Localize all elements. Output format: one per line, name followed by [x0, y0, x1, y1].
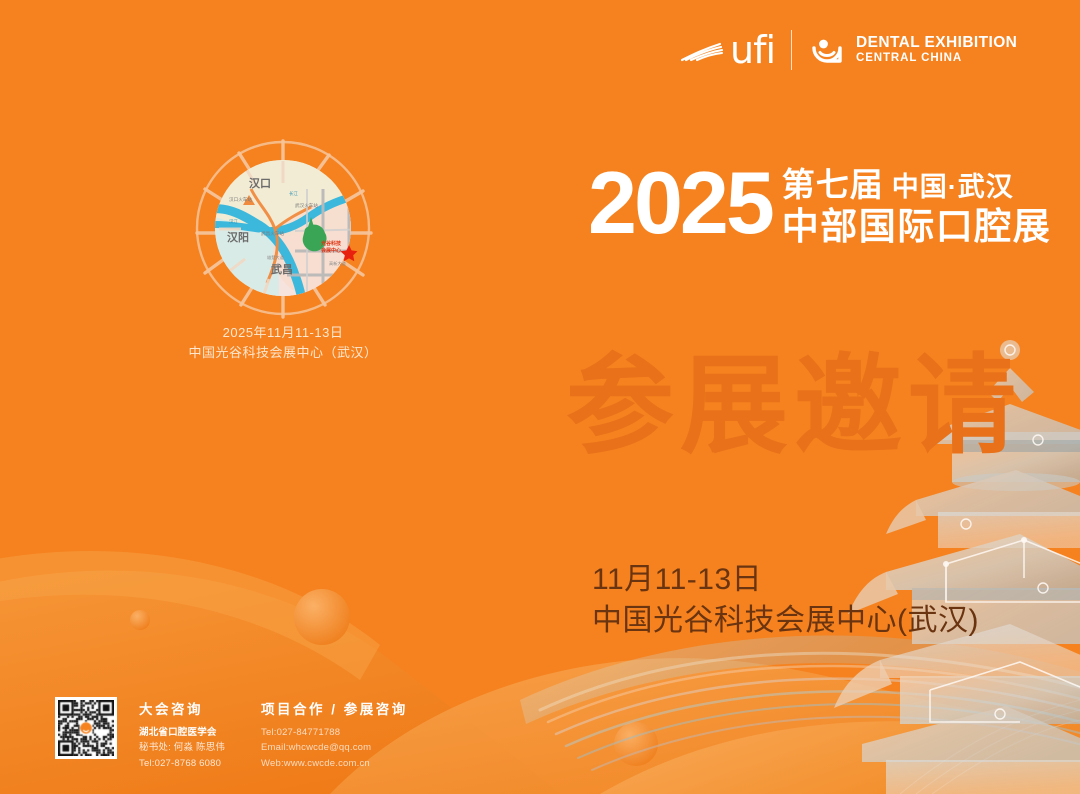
contact-column-conference: 大会咨询 湖北省口腔医学会 秘书处: 何淼 陈思伟 Tel:027-8768 6…: [139, 697, 239, 771]
dental-logo-line1: DENTAL EXHIBITION: [856, 34, 1017, 52]
dental-logo-line2: CENTRAL CHINA: [856, 52, 1017, 66]
qr-code-canvas: [58, 700, 114, 756]
dental-exhibition-logo: DENTAL EXHIBITION CENTRAL CHINA: [808, 31, 1017, 69]
title-location: 中国·武汉: [892, 172, 1014, 202]
map-venue-label-l1: 光谷科技: [320, 240, 342, 247]
map-road-label: 雄楚大道: [267, 254, 285, 261]
title-year: 2025: [588, 163, 772, 244]
contact-line: Tel:027-8768 6080: [139, 756, 239, 771]
map-river-hanjiang: 汉江: [229, 218, 238, 225]
footer-contacts: 大会咨询 湖北省口腔医学会 秘书处: 何淼 陈思伟 Tel:027-8768 6…: [55, 697, 408, 771]
poster-canvas: ufi DENTAL EXHIBITION CENTRAL CHINA: [0, 0, 1080, 794]
map-district-hankou: 汉口: [249, 176, 271, 190]
decor-ball: [614, 722, 658, 766]
contact-line: Tel:027-84771788: [261, 725, 408, 740]
watermark-text: 参展邀请: [566, 352, 1022, 460]
location-map-block: 汉口 汉阳 武昌 汉口火车站 武汉火车站 武昌火车站 汉江 长江 光谷科技 会展…: [183, 133, 383, 378]
ufi-logo: ufi: [680, 31, 775, 69]
wuhan-map-icon: 汉口 汉阳 武昌 汉口火车站 武汉火车站 武昌火车站 汉江 长江 光谷科技 会展…: [183, 133, 383, 323]
map-caption: 2025年11月11-13日 中国光谷科技会展中心（武汉）: [183, 323, 383, 363]
map-district-wuchang: 武昌: [271, 262, 293, 276]
map-caption-line1: 2025年11月11-13日: [183, 323, 383, 343]
main-title: 2025 第七届 中国·武汉 中部国际口腔展: [588, 163, 1051, 247]
logo-divider: [791, 30, 792, 70]
map-caption-line2: 中国光谷科技会展中心（武汉）: [183, 343, 383, 363]
contact-heading: 大会咨询: [139, 701, 239, 720]
map-district-hanyang: 汉阳: [227, 230, 249, 244]
title-chinese: 第七届 中国·武汉 中部国际口腔展: [782, 163, 1052, 247]
decor-ball: [130, 610, 150, 630]
map-venue-label-l2: 会展中心: [320, 247, 341, 254]
contact-line: 秘书处: 何淼 陈思伟: [139, 740, 239, 755]
qr-code[interactable]: [55, 697, 117, 759]
decor-ball: [294, 589, 350, 645]
contact-column-cooperation: 项目合作 / 参展咨询 Tel:027-84771788 Email:whcwc…: [261, 697, 408, 771]
map-station-hankou: 汉口火车站: [229, 196, 252, 203]
title-edition: 第七届: [782, 167, 884, 204]
dental-logo-text: DENTAL EXHIBITION CENTRAL CHINA: [856, 34, 1017, 66]
ufi-swoosh-icon: [680, 36, 726, 64]
ufi-wordmark: ufi: [730, 31, 775, 69]
event-info: 11月11-13日 中国光谷科技会展中心(武汉): [592, 560, 979, 641]
logo-bar: ufi DENTAL EXHIBITION CENTRAL CHINA: [680, 26, 1017, 74]
title-row-1: 第七届 中国·武汉: [782, 167, 1052, 204]
map-river-changjiang: 长江: [289, 190, 298, 197]
contact-line: Web:www.cwcde.com.cn: [261, 756, 408, 771]
map-station-wuhan: 武汉火车站: [295, 202, 318, 209]
contact-line: Email:whcwcde@qq.com: [261, 740, 408, 755]
title-name: 中部国际口腔展: [782, 206, 1052, 247]
contact-line: 湖北省口腔医学会: [139, 725, 239, 740]
event-venue: 中国光谷科技会展中心(武汉): [592, 601, 979, 642]
event-date: 11月11-13日: [592, 560, 979, 601]
smiling-tooth-icon: [808, 31, 846, 69]
map-station-wuchang: 武昌火车站: [261, 230, 284, 237]
contact-heading: 项目合作 / 参展咨询: [261, 701, 408, 720]
